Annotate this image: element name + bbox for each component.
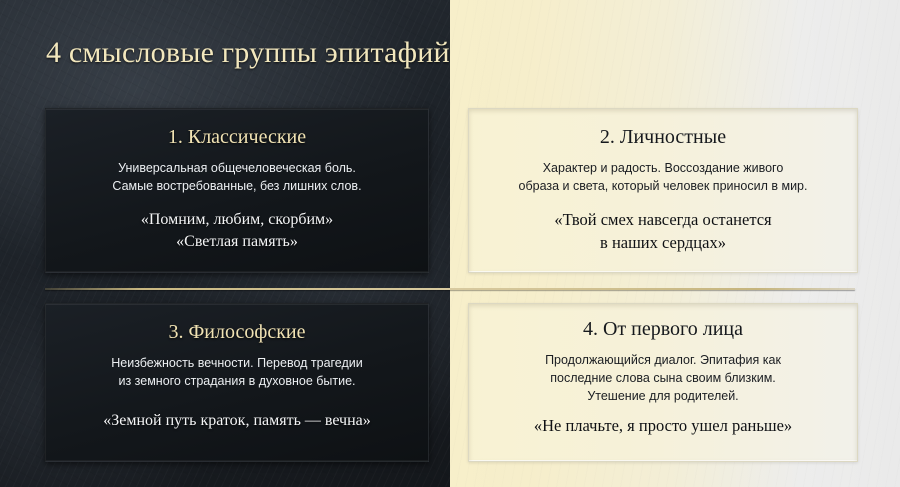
card-description: Продолжающийся диалог. Эпитафия как посл…: [481, 351, 845, 405]
card-description-line: Самые востребованные, без лишних слов.: [112, 179, 361, 193]
card-description-line: из земного страдания в духовное бытие.: [118, 374, 355, 388]
card-description-line: Утешение для родителей.: [587, 389, 738, 403]
card-description-line: Характер и радость. Воссоздание живого: [543, 161, 784, 175]
card-quote-line: в наших сердцах»: [600, 233, 726, 252]
card-quote-line: «Земной путь краток, память — вечна»: [103, 412, 371, 429]
card-quote: «Не плачьте, я просто ушел раньше»: [481, 415, 845, 437]
card-description-line: образа и света, который человек приносил…: [519, 179, 808, 193]
card-title: 2. Личностные: [481, 126, 845, 149]
card-title: 3. Философские: [60, 321, 414, 344]
card-quote-line: «Помним, любим, скорбим»: [141, 211, 333, 228]
card-title: 4. От первого лица: [481, 318, 845, 341]
card-quote-line: «Не плачьте, я просто ушел раньше»: [534, 416, 792, 435]
card-description-line: Продолжающийся диалог. Эпитафия как: [545, 353, 781, 367]
card-quote: «Твой смех навсегда останется в наших се…: [481, 209, 845, 254]
card-description-line: Универсальная общечеловеческая боль.: [118, 161, 356, 175]
slide-canvas: 4 смысловые группы эпитафий 4 смысловые …: [0, 0, 900, 487]
horizontal-divider: [45, 288, 855, 290]
card-title: 1. Классические: [60, 126, 414, 149]
card-philosophical[interactable]: 3. Философские Неизбежность вечности. Пе…: [45, 303, 429, 462]
card-description: Универсальная общечеловеческая боль. Сам…: [60, 159, 414, 195]
card-description-line: последние слова сына своим близким.: [550, 371, 776, 385]
card-description: Неизбежность вечности. Перевод трагедии …: [60, 354, 414, 390]
card-classic[interactable]: 1. Классические Универсальная общечелове…: [45, 108, 429, 273]
card-quote-line: «Твой смех навсегда останется: [554, 210, 771, 229]
card-quote: «Земной путь краток, память — вечна»: [60, 410, 414, 432]
card-personal[interactable]: 2. Личностные Характер и радость. Воссоз…: [468, 108, 858, 273]
card-first-person[interactable]: 4. От первого лица Продолжающийся диалог…: [468, 303, 858, 462]
card-description-line: Неизбежность вечности. Перевод трагедии: [111, 356, 363, 370]
card-quote: «Помним, любим, скорбим» «Светлая память…: [60, 209, 414, 252]
card-quote-line: «Светлая память»: [176, 233, 298, 250]
card-description: Характер и радость. Воссоздание живого о…: [481, 159, 845, 195]
